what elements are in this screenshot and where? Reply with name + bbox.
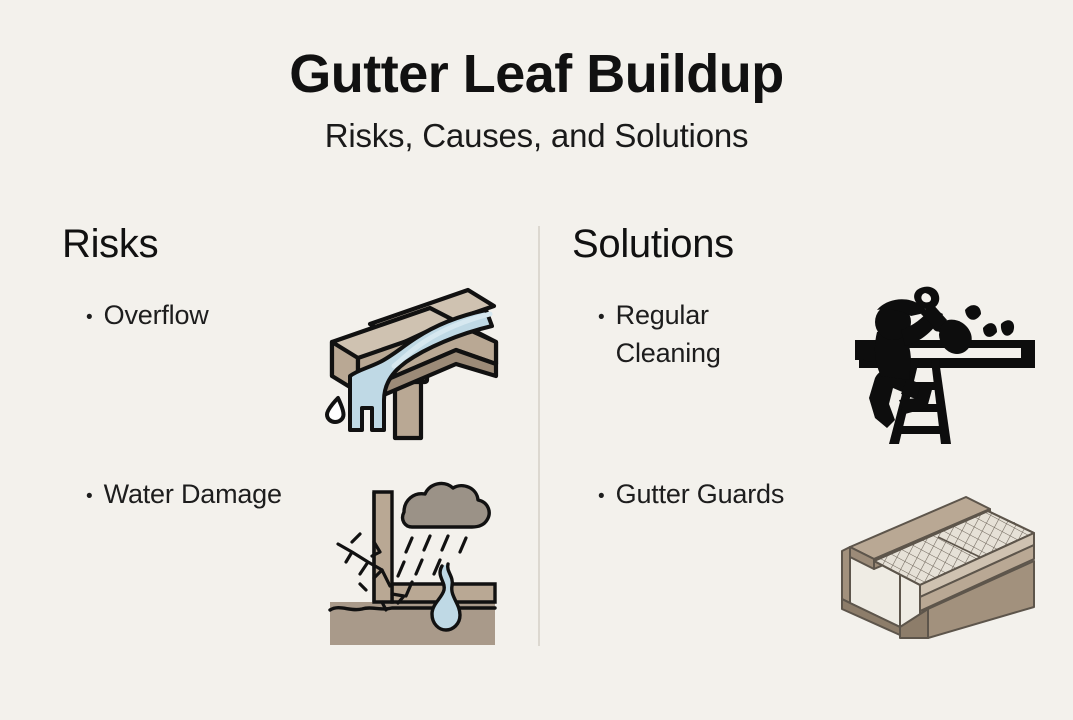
- column-heading-solutions: Solutions: [572, 222, 1042, 266]
- gutter-guard-icon: [838, 495, 1038, 640]
- list-item-label: Gutter Guards: [616, 475, 784, 513]
- list-item-gutter-guards: • Gutter Guards: [598, 475, 784, 513]
- infographic-canvas: Gutter Leaf Buildup Risks, Causes, and S…: [0, 0, 1073, 720]
- header: Gutter Leaf Buildup Risks, Causes, and S…: [0, 46, 1073, 155]
- bullet-icon: •: [598, 475, 605, 506]
- column-solutions: Solutions: [572, 222, 1042, 266]
- list-item-regular-cleaning: • Regular Cleaning: [598, 296, 721, 373]
- list-item-label: Water Damage: [104, 475, 282, 513]
- list-item-overflow: • Overflow: [86, 296, 209, 334]
- list-item-label: Overflow: [104, 296, 209, 334]
- bullet-icon: •: [86, 475, 93, 506]
- list-item-water-damage: • Water Damage: [86, 475, 282, 513]
- page-subtitle: Risks, Causes, and Solutions: [0, 103, 1073, 155]
- gutter-cleaning-icon: [855, 282, 1035, 447]
- bullet-icon: •: [86, 296, 93, 327]
- column-divider: [538, 226, 540, 646]
- water-damage-icon: [330, 470, 495, 645]
- gutter-overflow-icon: [318, 280, 508, 440]
- bullet-icon: •: [598, 296, 605, 327]
- column-heading-risks: Risks: [62, 222, 532, 266]
- column-risks: Risks: [62, 222, 532, 266]
- page-title: Gutter Leaf Buildup: [0, 46, 1073, 103]
- list-item-label: Regular Cleaning: [616, 296, 721, 373]
